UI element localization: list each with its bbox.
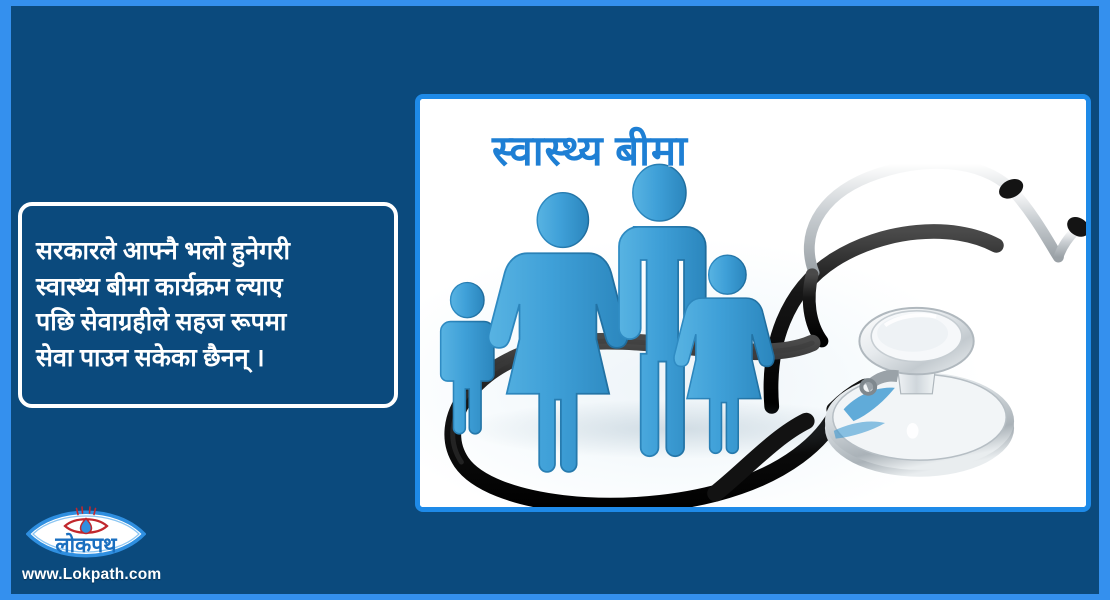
figure-child-boy xyxy=(441,283,494,434)
headline-quote-text: सरकारले आफ्नै भलो हुनेगरी स्वास्थ्य बीमा… xyxy=(36,234,382,376)
headline-quote-box: सरकारले आफ्नै भलो हुनेगरी स्वास्थ्य बीमा… xyxy=(18,202,398,408)
lokpath-logo[interactable]: लोकपथ xyxy=(26,506,146,562)
poster-canvas: सरकारले आफ्नै भलो हुनेगरी स्वास्थ्य बीमा… xyxy=(0,0,1110,600)
right-accent-stripe xyxy=(1099,6,1110,594)
photo-headline: स्वास्थ्य बीमा xyxy=(492,121,688,178)
brand-block: लोकपथ www.Lokpath.com xyxy=(20,506,200,584)
health-insurance-photo-panel: स्वास्थ्य बीमा xyxy=(415,94,1091,512)
left-accent-stripe xyxy=(0,6,11,594)
brand-url-text[interactable]: www.Lokpath.com xyxy=(22,566,200,584)
figure-mother xyxy=(489,193,628,472)
logo-wordmark: लोकपथ xyxy=(54,532,118,557)
